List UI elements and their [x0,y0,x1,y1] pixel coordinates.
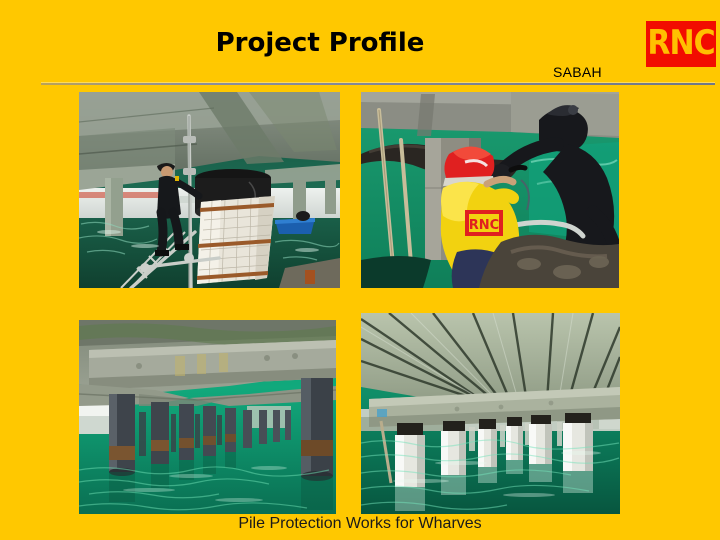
presentation-slide: Project Profile SABAH RNC [0,0,720,540]
photo-divers-at-pile: RNC [361,92,619,288]
photo-jacketed-piles-under-wharf [361,313,620,514]
subtitle-location: SABAH [553,64,602,80]
page-title: Project Profile [0,28,720,58]
title-divider [41,83,715,85]
svg-text:RNC: RNC [469,218,499,233]
rnc-logo: RNC [646,21,716,67]
photo-pile-jacket-installation [79,92,340,288]
slide-caption: Pile Protection Works for Wharves [0,515,720,533]
photo-unprotected-piles-under-wharf [79,320,336,514]
rnc-logo-text: RNC [647,27,714,61]
